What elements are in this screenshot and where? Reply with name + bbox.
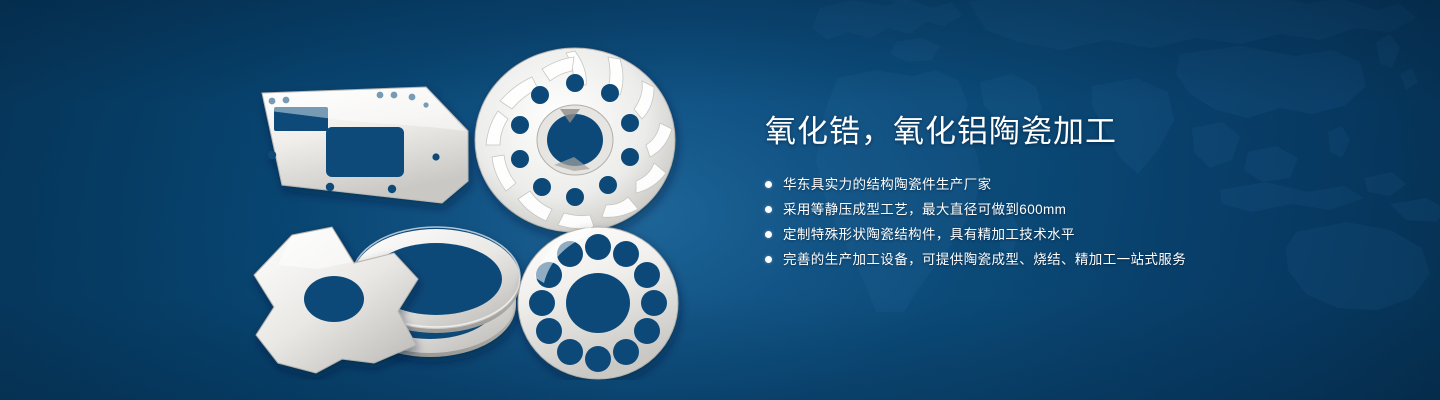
list-item: 华东具实力的结构陶瓷件生产厂家 [765, 174, 1365, 195]
bullet-dot-icon [765, 256, 772, 263]
feature-text: 华东具实力的结构陶瓷件生产厂家 [783, 175, 992, 195]
feature-text: 采用等静压成型工艺，最大直径可做到600mm [783, 200, 1066, 220]
feature-list: 华东具实力的结构陶瓷件生产厂家 采用等静压成型工艺，最大直径可做到600mm 定… [765, 174, 1365, 270]
bullet-dot-icon [765, 231, 772, 238]
ceramic-perforated-disc-part [518, 226, 678, 379]
feature-text: 完善的生产加工设备，可提供陶瓷成型、烧结、精加工一站式服务 [783, 250, 1186, 270]
bullet-dot-icon [765, 181, 772, 188]
banner-copy: 氧化锆，氧化铝陶瓷加工 华东具实力的结构陶瓷件生产厂家 采用等静压成型工艺，最大… [765, 112, 1365, 274]
list-item: 定制特殊形状陶瓷结构件，具有精加工技术水平 [765, 224, 1365, 245]
ceramic-impeller-part [475, 48, 675, 232]
banner-headline: 氧化锆，氧化铝陶瓷加工 [765, 112, 1365, 152]
ceramic-parts-photo [230, 35, 700, 380]
feature-text: 定制特殊形状陶瓷结构件，具有精加工技术水平 [783, 225, 1075, 245]
list-item: 完善的生产加工设备，可提供陶瓷成型、烧结、精加工一站式服务 [765, 249, 1365, 270]
promo-banner: 氧化锆，氧化铝陶瓷加工 华东具实力的结构陶瓷件生产厂家 采用等静压成型工艺，最大… [0, 0, 1440, 400]
bullet-dot-icon [765, 206, 772, 213]
list-item: 采用等静压成型工艺，最大直径可做到600mm [765, 199, 1365, 220]
ceramic-plate-part [262, 87, 468, 203]
